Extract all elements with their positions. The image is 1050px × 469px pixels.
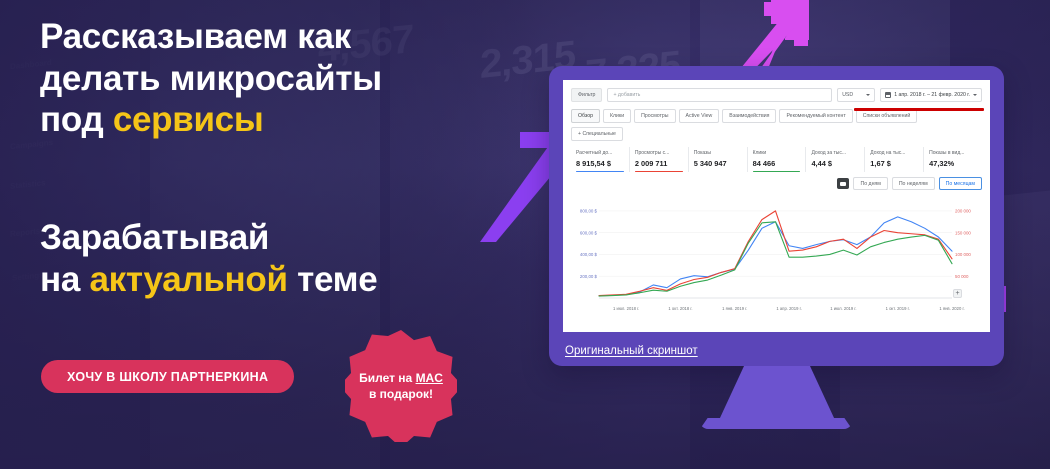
gift-badge: Билет на MAC в подарок!: [345, 330, 457, 442]
tab-ad-lists[interactable]: Списки объявлений: [856, 109, 918, 123]
subheadline-accent: актуальной: [89, 260, 287, 299]
headline-line-2: делать микросайты: [40, 59, 382, 98]
subheadline-line-1: Зарабатывай: [40, 218, 269, 257]
chevron-down-icon: [973, 94, 977, 96]
metric-card[interactable]: Расчетный до... 8 915,54 $: [571, 147, 629, 172]
calendar-icon: [885, 92, 891, 98]
special-button[interactable]: + Специальные: [571, 127, 623, 141]
svg-text:1 окт. 2018 г.: 1 окт. 2018 г.: [668, 306, 692, 311]
subheadline-plain-b: теме: [288, 260, 378, 299]
currency-select[interactable]: USD: [837, 88, 875, 102]
metric-value: 5 340 947: [694, 159, 742, 168]
svg-text:50 000: 50 000: [955, 274, 969, 279]
filter-label: Фильтр: [571, 88, 602, 102]
cta-button[interactable]: ХОЧУ В ШКОЛУ ПАРТНЕРКИНА: [41, 360, 294, 393]
svg-text:1 апр. 2019 г.: 1 апр. 2019 г.: [776, 306, 801, 311]
metric-value: 84 466: [753, 159, 801, 168]
adsense-dashboard: Фильтр + добавить USD 1 апр. 2018 г. – 2…: [563, 80, 990, 314]
comment-icon[interactable]: [837, 178, 849, 189]
granularity-daily[interactable]: По дням: [853, 177, 887, 190]
chevron-down-icon: [866, 94, 870, 96]
currency-value: USD: [842, 92, 853, 98]
metrics-row: Расчетный до... 8 915,54 $ Просмотры с..…: [563, 141, 990, 172]
metric-value: 8 915,54 $: [576, 159, 624, 168]
svg-text:200,00 $: 200,00 $: [580, 274, 598, 279]
monitor-screen: Фильтр + добавить USD 1 апр. 2018 г. – 2…: [563, 80, 990, 332]
monitor-neck: [549, 366, 1004, 422]
metric-label: Доход на тыс...: [870, 150, 918, 156]
metric-underline: [694, 171, 742, 173]
dashboard-tabs: Обзор Клики Просмотры Active View Взаимо…: [563, 102, 990, 123]
chart-canvas: 200,00 $50 000400,00 $100 000600,00 $150…: [569, 194, 984, 314]
badge-line-1: Билет на: [359, 371, 415, 385]
metric-underline: [576, 171, 624, 173]
svg-text:400,00 $: 400,00 $: [580, 252, 598, 257]
metric-card[interactable]: Доход на тыс... 1,67 $: [864, 147, 923, 172]
headline-line-3-accent: сервисы: [113, 100, 264, 139]
svg-text:1 янв. 2020 г.: 1 янв. 2020 г.: [939, 306, 964, 311]
dashboard-toolbar: Фильтр + добавить USD 1 апр. 2018 г. – 2…: [563, 80, 990, 102]
headline-line-1: Рассказываем как: [40, 17, 351, 56]
svg-text:800,00 $: 800,00 $: [580, 209, 598, 214]
metric-value: 1,67 $: [870, 159, 918, 168]
granularity-weekly[interactable]: По неделям: [892, 177, 935, 190]
tab-interactions[interactable]: Взаимодействия: [722, 109, 776, 123]
metric-card[interactable]: Клики 84 466: [747, 147, 806, 172]
svg-text:1 июл. 2018 г.: 1 июл. 2018 г.: [613, 306, 639, 311]
promo-banner: 4,567 2,315 7,325 Dashboard Campaigns St…: [0, 0, 1050, 469]
tab-matched-content[interactable]: Рекомендуемый контент: [779, 109, 852, 123]
headline-line-3-plain: под: [40, 100, 113, 139]
badge-line-2: в подарок!: [369, 387, 433, 401]
metric-card[interactable]: Просмотры с... 2 009 711: [629, 147, 688, 172]
date-range-picker[interactable]: 1 апр. 2018 г. – 21 февр. 2020 г.: [880, 88, 982, 102]
metric-card[interactable]: Показы 5 340 947: [688, 147, 747, 172]
metric-value: 4,44 $: [811, 159, 859, 168]
metric-underline: [753, 171, 801, 173]
metric-value: 2 009 711: [635, 159, 683, 168]
tab-views[interactable]: Просмотры: [634, 109, 675, 123]
metric-card[interactable]: Показы в вид... 47,32%: [923, 147, 982, 172]
metric-label: Показы в вид...: [929, 150, 977, 156]
metric-underline: [929, 171, 977, 173]
filter-input[interactable]: + добавить: [607, 88, 832, 102]
tab-active-view[interactable]: Active View: [679, 109, 720, 123]
chart-expand-button[interactable]: +: [953, 289, 962, 298]
metric-card[interactable]: Доход за тыс... 4,44 $: [805, 147, 864, 172]
monitor-foot: [700, 418, 852, 429]
metric-label: Расчетный до...: [576, 150, 624, 156]
badge-text: Билет на MAC в подарок!: [359, 370, 443, 402]
red-highlight-bar: [854, 108, 984, 111]
subheadline: Зарабатывай на актуальной теме: [40, 217, 377, 300]
line-chart: 200,00 $50 000400,00 $100 000600,00 $150…: [569, 194, 984, 314]
metric-underline: [811, 171, 859, 173]
tab-clicks[interactable]: Клики: [603, 109, 631, 123]
screenshot-caption: Оригинальный скриншот: [565, 345, 698, 357]
svg-text:150 000: 150 000: [955, 230, 971, 235]
monitor-frame: Фильтр + добавить USD 1 апр. 2018 г. – 2…: [549, 66, 1004, 366]
date-range-value: 1 апр. 2018 г. – 21 февр. 2020 г.: [894, 92, 970, 98]
metric-label: Клики: [753, 150, 801, 156]
svg-text:600,00 $: 600,00 $: [580, 230, 598, 235]
tab-overview[interactable]: Обзор: [571, 109, 600, 123]
metric-underline: [870, 171, 918, 173]
metric-label: Доход за тыс...: [811, 150, 859, 156]
granularity-monthly[interactable]: По месяцам: [939, 177, 982, 190]
svg-text:1 янв. 2019 г.: 1 янв. 2019 г.: [722, 306, 747, 311]
svg-text:1 июл. 2019 г.: 1 июл. 2019 г.: [830, 306, 856, 311]
metric-underline: [635, 171, 683, 173]
chart-controls: По дням По неделям По месяцам: [563, 172, 990, 190]
metric-label: Показы: [694, 150, 742, 156]
monitor-mockup: Фильтр + добавить USD 1 апр. 2018 г. – 2…: [549, 66, 1004, 366]
svg-text:100 000: 100 000: [955, 252, 971, 257]
svg-text:1 окт. 2019 г.: 1 окт. 2019 г.: [886, 306, 910, 311]
badge-line-1-underlined: MAC: [416, 371, 443, 385]
svg-text:200 000: 200 000: [955, 209, 971, 214]
subheadline-plain-a: на: [40, 260, 89, 299]
metric-value: 47,32%: [929, 159, 977, 168]
page-title: Рассказываем как делать микросайты под с…: [40, 16, 382, 141]
filter-placeholder: + добавить: [613, 92, 640, 98]
metric-label: Просмотры с...: [635, 150, 683, 156]
